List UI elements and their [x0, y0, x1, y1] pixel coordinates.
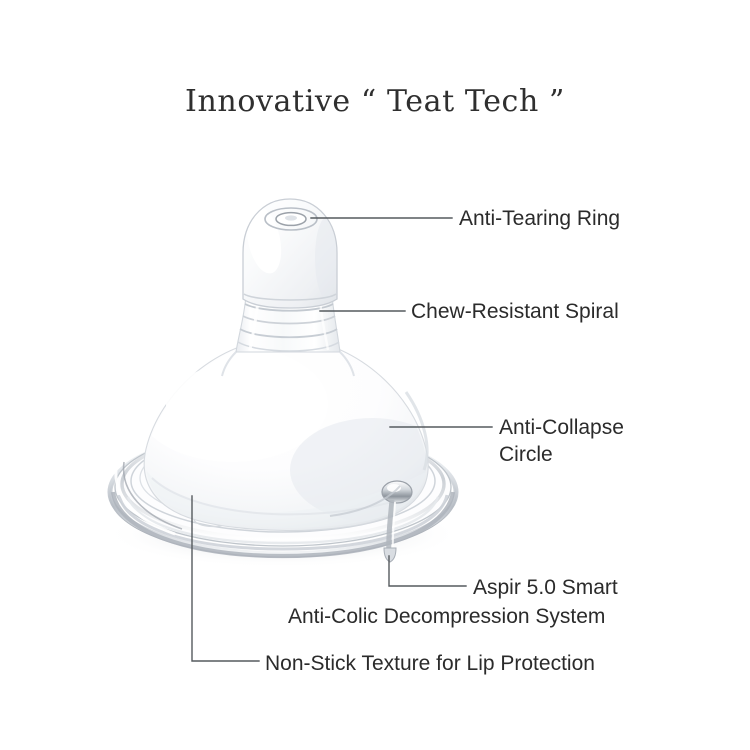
flange-base — [110, 428, 456, 557]
flange-mould-mark — [194, 512, 232, 527]
anti-tearing-ring-detail — [265, 208, 317, 230]
leader-non-stick — [192, 496, 259, 661]
callout-label-anti-tearing-ring: Anti-Tearing Ring — [459, 205, 620, 232]
callout-label-chew-resistant-spiral: Chew-Resistant Spiral — [411, 298, 619, 325]
page-title: Innovative “ Teat Tech ” — [0, 84, 750, 119]
anti-colic-valve — [330, 481, 412, 562]
callout-label-anti-collapse-line1: Anti-Collapse — [499, 414, 669, 441]
nipple-tip — [241, 199, 337, 308]
chew-resistant-spiral-neck — [222, 296, 354, 376]
leader-aspir-anti-colic — [389, 556, 466, 586]
callout-label-anti-collapse-line2: Circle — [499, 441, 669, 468]
infographic-page: Innovative “ Teat Tech ” — [0, 0, 750, 750]
callout-label-anti-collapse-circle: Anti-Collapse Circle — [499, 414, 669, 468]
callout-label-aspir-line2: Anti-Colic Decompression System — [288, 603, 605, 630]
callout-label-non-stick-texture: Non-Stick Texture for Lip Protection — [265, 650, 595, 677]
teat-bell-body — [136, 338, 454, 560]
callout-label-aspir-line1: Aspir 5.0 Smart — [473, 574, 618, 601]
